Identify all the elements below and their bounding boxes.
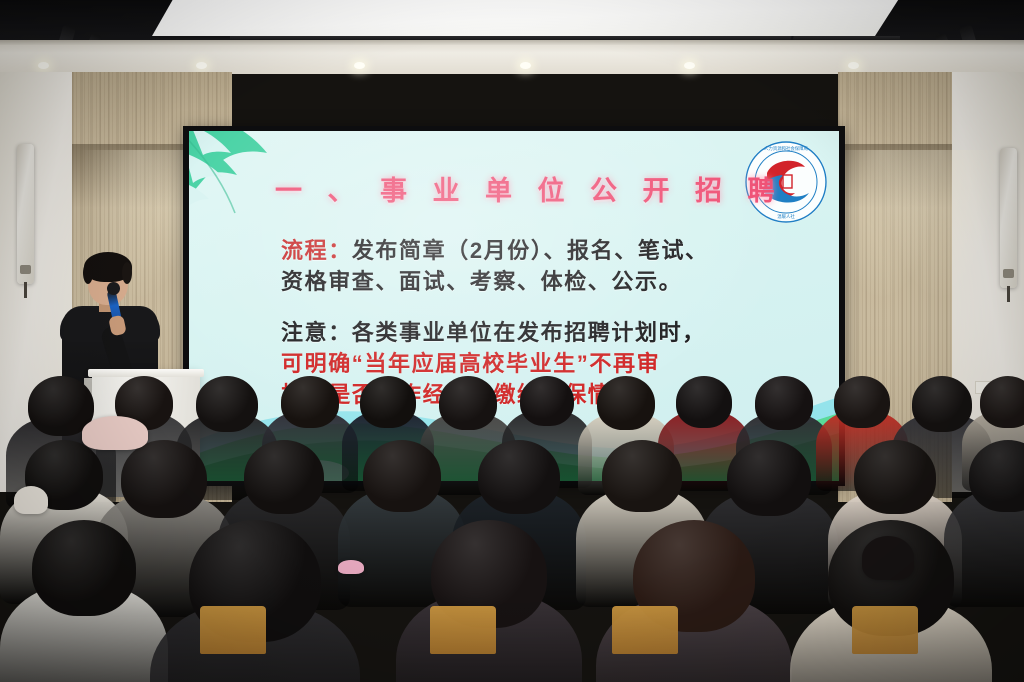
wall-speaker-right bbox=[1000, 148, 1017, 288]
audience-member-head bbox=[969, 440, 1024, 512]
pink-hairclip bbox=[338, 560, 364, 574]
audience-member-head bbox=[834, 376, 890, 428]
wall-speaker-stem bbox=[1007, 286, 1010, 302]
downlight-icon bbox=[520, 62, 531, 69]
audience-member-head bbox=[363, 440, 441, 512]
white-scrunchie bbox=[14, 486, 48, 514]
audience-member-head bbox=[676, 376, 732, 428]
audience-member-head bbox=[478, 440, 560, 514]
slide-paragraph-line: 流程：发布简章（2月份）、报名、笔试、 bbox=[281, 235, 821, 266]
audience-member-head bbox=[727, 440, 811, 516]
downlight-icon bbox=[684, 62, 695, 69]
chair-back bbox=[612, 606, 678, 654]
wall-speaker-left bbox=[17, 144, 34, 284]
paragraph-label: 流程： bbox=[281, 238, 352, 263]
audience bbox=[0, 370, 1024, 682]
audience-member bbox=[150, 520, 360, 682]
slide-title: 一 、 事 业 单 位 公 开 招 聘 bbox=[275, 169, 745, 208]
soffit-lip bbox=[0, 40, 1024, 45]
hair-bun bbox=[862, 536, 914, 580]
svg-text:温暖人社: 温暖人社 bbox=[777, 213, 795, 220]
downlight-icon bbox=[354, 62, 365, 69]
chair-back bbox=[852, 606, 918, 654]
audience-member-head bbox=[597, 376, 655, 430]
audience-member-head bbox=[121, 440, 207, 518]
audience-member-head bbox=[755, 376, 813, 430]
audience-member bbox=[0, 520, 168, 682]
slide-paragraph-line: 注意：各类事业单位在发布招聘计划时， bbox=[281, 317, 821, 348]
audience-member-head bbox=[602, 440, 682, 512]
chair-back bbox=[200, 606, 266, 654]
audience-member-head bbox=[360, 376, 416, 428]
paragraph-text: 发布简章（2月份）、报名、笔试、 bbox=[352, 238, 709, 263]
pink-cap bbox=[82, 416, 148, 450]
ceiling-soffit bbox=[0, 40, 1024, 74]
audience-member-head bbox=[244, 440, 324, 514]
lecture-hall-scene: 人力资源和社会保障局 温暖人社 一 、 事 业 单 位 公 开 招 聘 流程：发… bbox=[0, 0, 1024, 682]
audience-member-head bbox=[854, 440, 936, 514]
chair-back bbox=[430, 606, 496, 654]
svg-text:人力资源和社会保障局: 人力资源和社会保障局 bbox=[764, 145, 808, 152]
slide-paragraph-line: 资格审查、面试、考察、体检、公示。 bbox=[281, 266, 821, 297]
downlight-icon bbox=[196, 62, 207, 69]
audience-member bbox=[396, 520, 582, 682]
wall-speaker-stem bbox=[24, 282, 27, 298]
audience-member-head bbox=[196, 376, 258, 432]
ceiling-light-panel bbox=[152, 0, 902, 36]
audience-member bbox=[596, 520, 792, 682]
downlight-icon bbox=[38, 62, 49, 69]
audience-member-head bbox=[439, 376, 497, 430]
audience-member-head bbox=[520, 376, 574, 426]
downlight-icon bbox=[848, 62, 859, 69]
audience-member-head bbox=[281, 376, 339, 428]
audience-member-head bbox=[980, 376, 1024, 428]
audience-member-head bbox=[32, 520, 136, 616]
